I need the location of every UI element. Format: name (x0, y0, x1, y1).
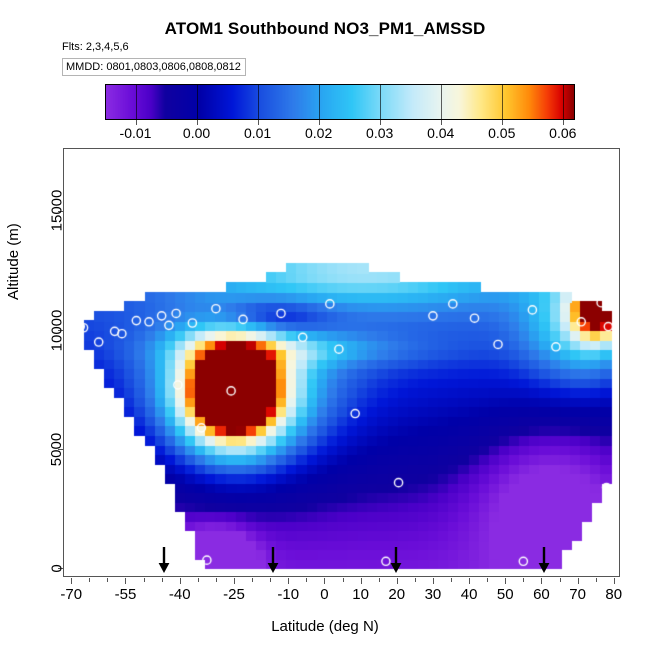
x-axis-tick-label: 10 (352, 586, 369, 603)
x-axis-minor-tick (560, 578, 561, 582)
x-axis-minor-tick (216, 578, 217, 582)
heatmap-canvas (64, 149, 621, 578)
x-axis-tick-label: 20 (388, 586, 405, 603)
latitude-arrow-marker (266, 547, 280, 573)
x-axis-tick-label: 80 (605, 586, 622, 603)
y-axis-tick-label: 10000 (48, 309, 65, 351)
x-axis-minor-tick (89, 578, 90, 582)
x-axis-tick-label: -10 (277, 586, 299, 603)
latitude-arrow-marker (157, 547, 171, 573)
x-axis-minor-tick (487, 578, 488, 582)
figure-root: ATOM1 Southbound NO3_PM1_AMSSD Flts: 2,3… (0, 0, 650, 650)
colorbar-tick-label: -0.01 (120, 125, 152, 141)
colorbar-divider (563, 85, 564, 119)
x-axis-tick (614, 578, 615, 584)
x-axis-tick (433, 578, 434, 584)
x-axis-tick-label: -70 (60, 586, 82, 603)
flights-label: Flts: 2,3,4,5,6 (62, 41, 129, 53)
x-axis-minor-tick (144, 578, 145, 582)
x-axis-minor-tick (162, 578, 163, 582)
x-axis-minor-tick (252, 578, 253, 582)
x-axis-tick (180, 578, 181, 584)
colorbar-divider (258, 85, 259, 119)
x-axis-tick-label: 30 (425, 586, 442, 603)
x-axis-tick (541, 578, 542, 584)
y-axis-tick-label: 15000 (48, 190, 65, 232)
x-axis-tick-label: 0 (320, 586, 328, 603)
x-axis-tick-label: -55 (115, 586, 137, 603)
x-axis-tick (234, 578, 235, 584)
x-axis-tick (397, 578, 398, 584)
colorbar-divider (136, 85, 137, 119)
colorbar-divider (502, 85, 503, 119)
x-axis-tick (578, 578, 579, 584)
x-axis-minor-tick (451, 578, 452, 582)
colorbar-divider (197, 85, 198, 119)
x-axis-tick-label: -25 (223, 586, 245, 603)
x-axis-tick-label: 40 (461, 586, 478, 603)
colorbar: -0.010.000.010.020.030.040.050.06 (105, 84, 575, 120)
x-axis-tick (71, 578, 72, 584)
latitude-arrow-marker (389, 547, 403, 573)
x-axis-minor-tick (415, 578, 416, 582)
y-axis-tick-label: 0 (48, 564, 65, 572)
mmdd-label: MMDD: 0801,0803,0806,0808,0812 (62, 58, 246, 76)
x-axis-minor-tick (270, 578, 271, 582)
colorbar-divider (380, 85, 381, 119)
x-axis-minor-tick (107, 578, 108, 582)
x-axis-minor-tick (379, 578, 380, 582)
x-axis-tick-label: 50 (497, 586, 514, 603)
x-axis-minor-tick (343, 578, 344, 582)
colorbar-tick-label: 0.05 (488, 125, 515, 141)
colorbar-tick-label: 0.02 (305, 125, 332, 141)
plot-area: -70-55-40-25-1001020304050607080 0500010… (63, 148, 620, 577)
colorbar-tick-label: 0.00 (183, 125, 210, 141)
colorbar-tick-label: 0.03 (366, 125, 393, 141)
x-axis-tick (469, 578, 470, 584)
x-axis-tick (288, 578, 289, 584)
colorbar-tick-label: 0.04 (427, 125, 454, 141)
page-title: ATOM1 Southbound NO3_PM1_AMSSD (0, 19, 650, 39)
y-axis-tick-label: 5000 (48, 433, 65, 466)
x-axis-tick (324, 578, 325, 584)
x-axis-tick-label: 70 (569, 586, 586, 603)
colorbar-tick-label: 0.06 (549, 125, 576, 141)
x-axis-tick (361, 578, 362, 584)
x-axis-minor-tick (596, 578, 597, 582)
colorbar-divider (319, 85, 320, 119)
x-axis-minor-tick (523, 578, 524, 582)
colorbar-divider (441, 85, 442, 119)
x-axis-tick (125, 578, 126, 584)
x-axis-title: Latitude (deg N) (0, 618, 650, 635)
x-axis-minor-tick (198, 578, 199, 582)
x-axis-minor-tick (306, 578, 307, 582)
colorbar-gradient (105, 84, 575, 120)
x-axis-tick-label: -40 (169, 586, 191, 603)
x-axis-tick (505, 578, 506, 584)
y-axis-title: Altitude (m) (5, 223, 22, 300)
x-axis-tick-label: 60 (533, 586, 550, 603)
latitude-arrow-marker (537, 547, 551, 573)
colorbar-tick-label: 0.01 (244, 125, 271, 141)
